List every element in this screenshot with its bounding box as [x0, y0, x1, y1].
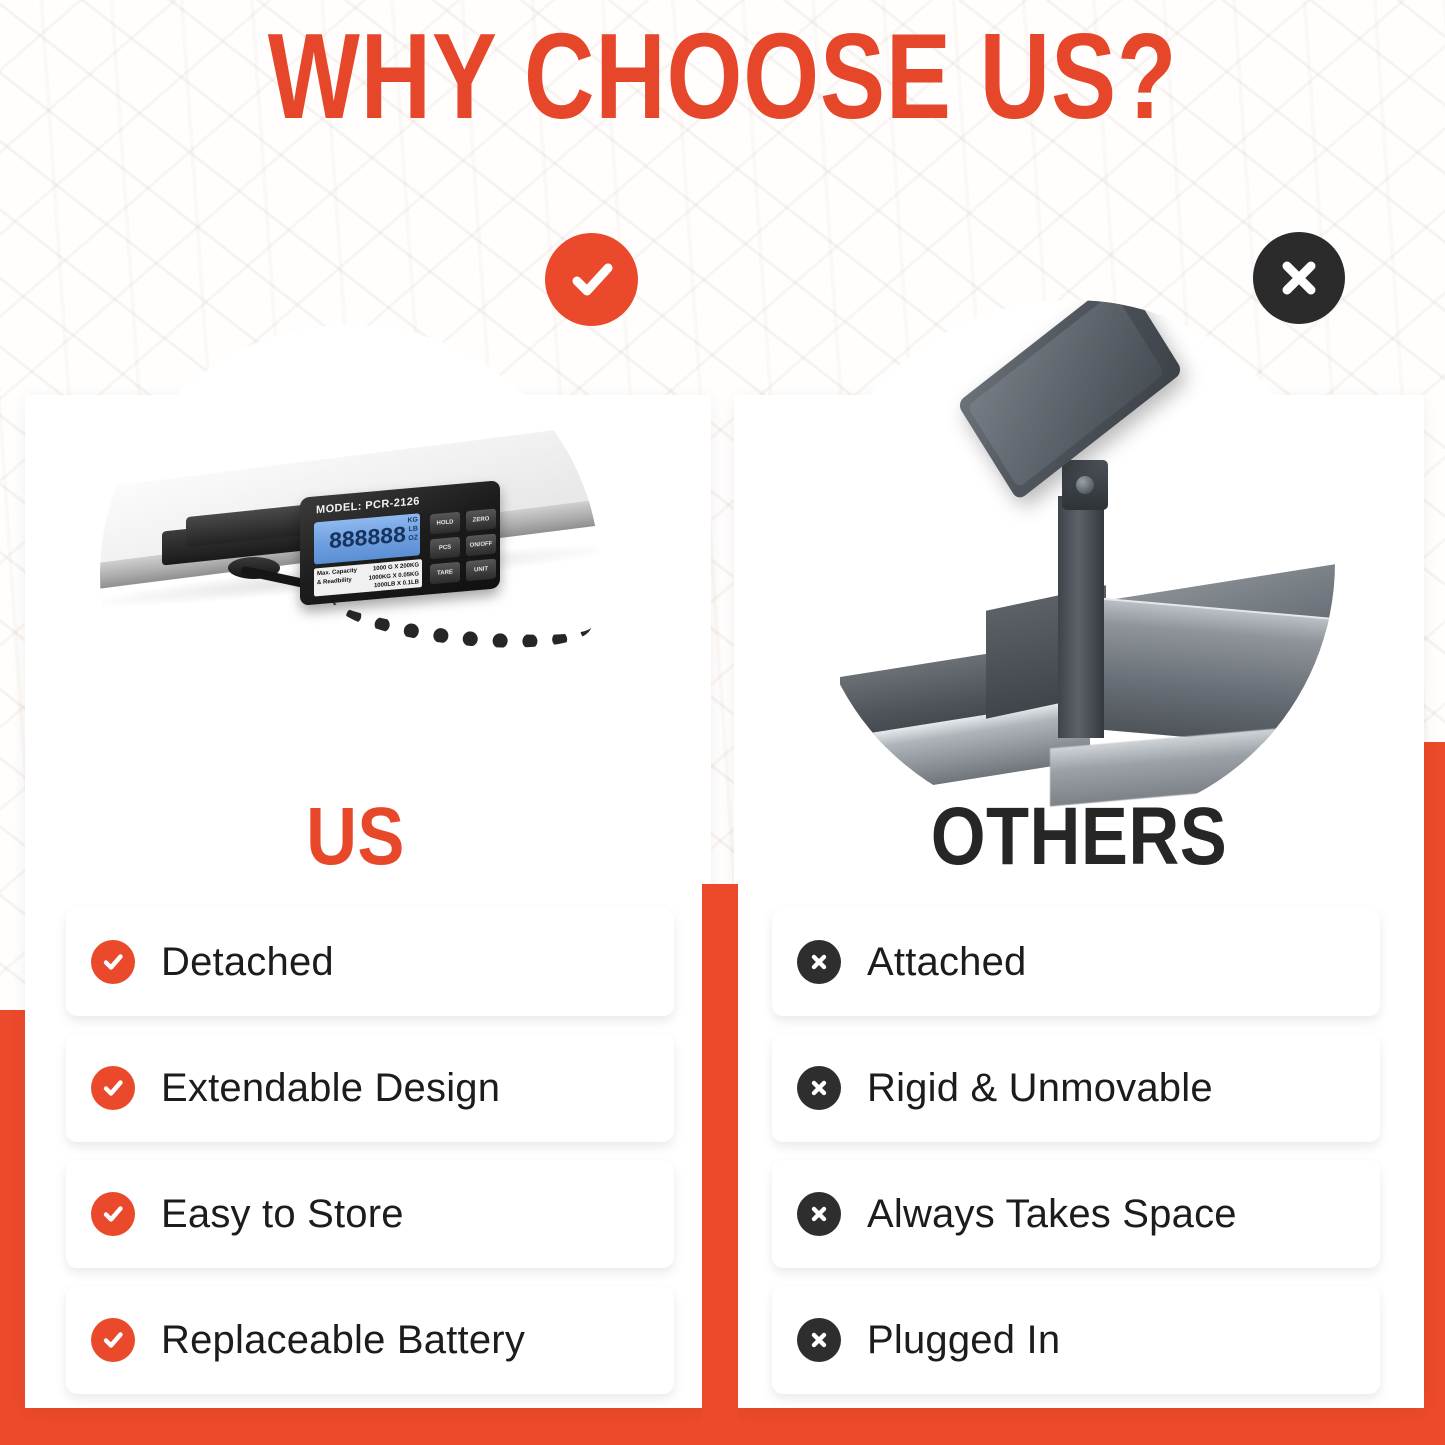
list-item[interactable]: Extendable Design [66, 1034, 674, 1142]
list-item[interactable]: Rigid & Unmovable [772, 1034, 1380, 1142]
key-pcs: PCS [430, 537, 460, 560]
list-item[interactable]: Detached [66, 908, 674, 1016]
check-icon [91, 940, 135, 984]
indicator-keypad: HOLD ZERO PCS ON/OFF TARE UNIT [430, 509, 496, 585]
list-item-label: Replaceable Battery [161, 1318, 525, 1363]
lcd-unit-labels: KGLBOZ [408, 516, 419, 543]
list-item[interactable]: Attached [772, 908, 1380, 1016]
cross-icon [797, 1066, 841, 1110]
list-item-label: Detached [161, 940, 334, 985]
heading-others: OTHERS [782, 790, 1375, 884]
feature-list-us: Detached Extendable Design Easy to Store [66, 908, 674, 1394]
list-item[interactable]: Plugged In [772, 1286, 1380, 1394]
list-item-label: Rigid & Unmovable [867, 1066, 1213, 1111]
indicator-model-label: MODEL: PCR-2126 [316, 495, 420, 516]
list-item-label: Plugged In [867, 1318, 1060, 1363]
indicator-coiled-cord [329, 568, 594, 659]
infographic-canvas: WHY CHOOSE US? MODEL: PCR-2126 888888 KG… [0, 0, 1445, 1445]
indicator-lcd-screen: 888888 KGLBOZ [314, 513, 420, 564]
key-onoff: ON/OFF [466, 534, 496, 557]
list-item[interactable]: Easy to Store [66, 1160, 674, 1268]
list-item-label: Extendable Design [161, 1066, 500, 1111]
list-item-label: Always Takes Space [867, 1192, 1237, 1237]
cross-icon [797, 1192, 841, 1236]
key-unit: UNIT [466, 559, 496, 582]
check-icon [91, 1192, 135, 1236]
check-icon [91, 1066, 135, 1110]
check-badge-icon [545, 233, 638, 326]
page-title: WHY CHOOSE US? [145, 13, 1301, 140]
list-item-label: Attached [867, 940, 1027, 985]
cross-icon [797, 1318, 841, 1362]
product-photo-others [810, 300, 1335, 825]
key-hold: HOLD [430, 512, 460, 535]
detached-scale-illustration: MODEL: PCR-2126 888888 KGLBOZ Max. Capac… [100, 325, 600, 825]
list-item[interactable]: Always Takes Space [772, 1160, 1380, 1268]
list-item[interactable]: Replaceable Battery [66, 1286, 674, 1394]
hinge-bolt [1076, 476, 1094, 494]
list-item-label: Easy to Store [161, 1192, 404, 1237]
attached-scale-illustration [810, 300, 1335, 825]
product-photo-us: MODEL: PCR-2126 888888 KGLBOZ Max. Capac… [100, 325, 600, 825]
check-icon [91, 1318, 135, 1362]
feature-list-others: Attached Rigid & Unmovable Always Takes … [772, 908, 1380, 1394]
cross-badge-icon [1253, 232, 1345, 324]
cross-icon [797, 940, 841, 984]
key-zero: ZERO [466, 509, 496, 532]
heading-us: US [50, 790, 661, 884]
lcd-digits: 888888 [329, 523, 406, 556]
display-support-post [1058, 496, 1104, 738]
column-divider [702, 884, 738, 1445]
